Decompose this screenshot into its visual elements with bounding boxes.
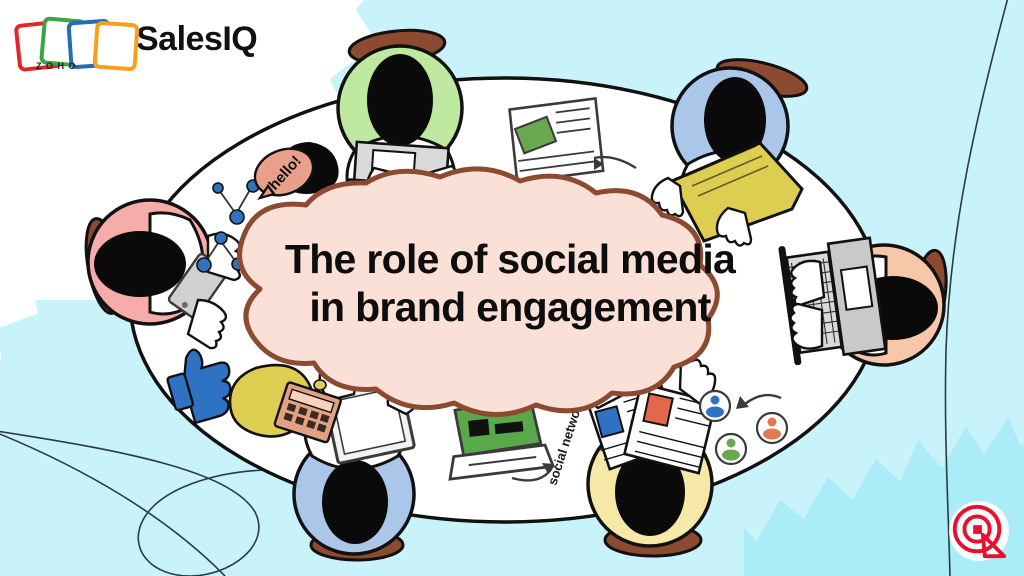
slide-canvas: hello! (0, 0, 1024, 576)
zoho-square-orange (92, 21, 139, 72)
avatar-orange (757, 413, 787, 443)
zoho-logo-icon: ZOHO (16, 18, 124, 66)
meeting-illustration: hello! (0, 0, 1024, 576)
salesiq-target-icon (948, 500, 1010, 562)
avatar-blue (700, 391, 730, 421)
salesiq-wordmark: SalesIQ (136, 20, 257, 59)
avatar-green (716, 434, 746, 464)
zoho-wordmark: ZOHO (36, 61, 80, 71)
zoho-salesiq-logo[interactable]: ZOHO SalesIQ (16, 18, 257, 66)
